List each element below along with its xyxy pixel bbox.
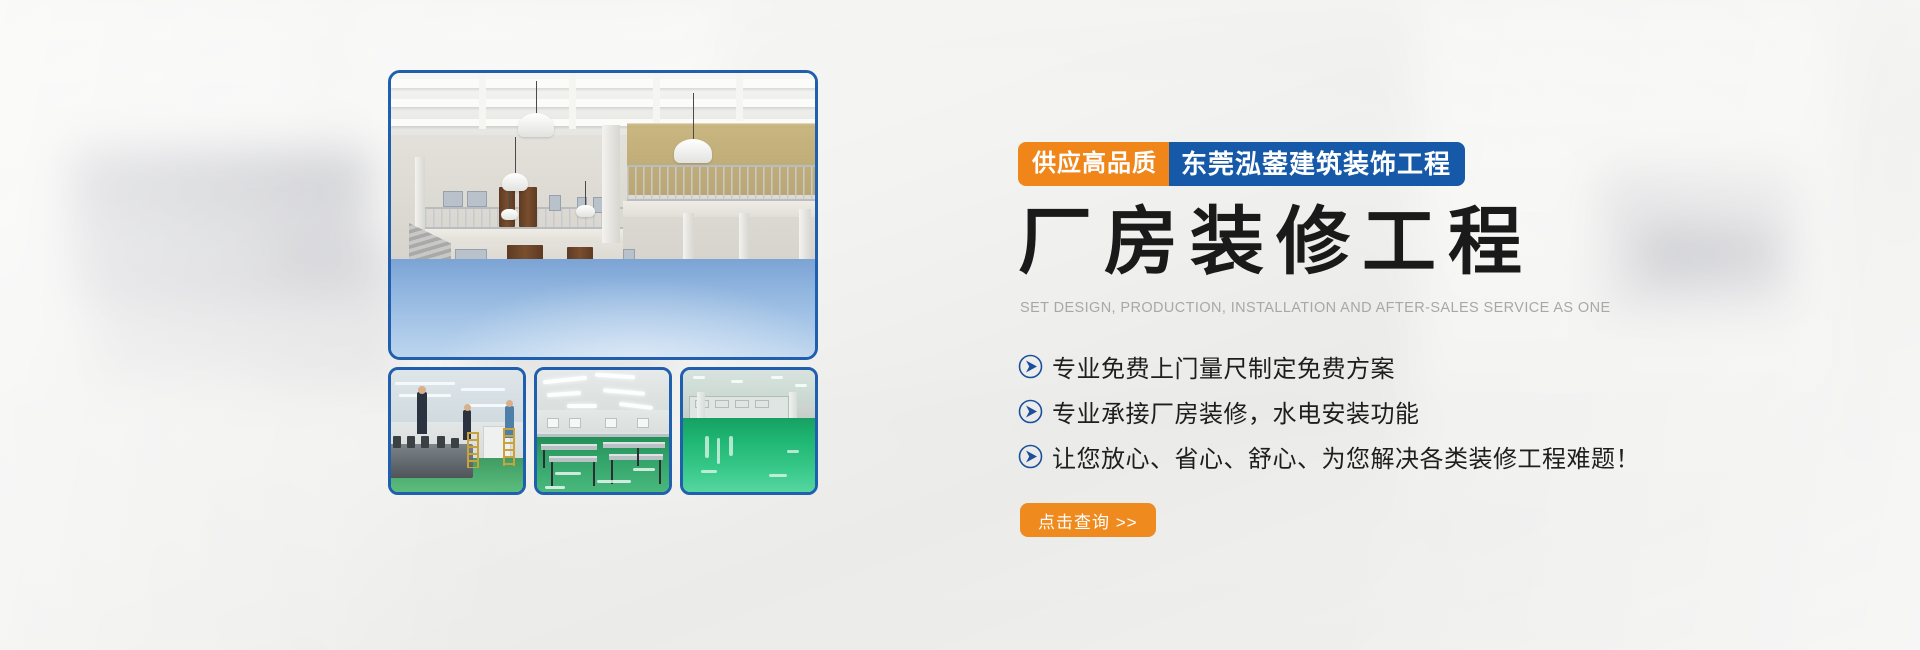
- list-item-label: 专业承接厂房装修，水电安装功能: [1052, 394, 1420, 429]
- thumb3-partition-window: [735, 400, 749, 408]
- thumb3-ceiling-light: [795, 384, 807, 387]
- thumb2-floor-reflection: [597, 480, 631, 483]
- thumb2-window: [605, 418, 617, 428]
- pendant-lamp-shade: [502, 173, 528, 191]
- thumb2-table-leg: [543, 450, 545, 468]
- upper-door: [519, 187, 537, 227]
- mezzanine-railing: [627, 165, 815, 201]
- thumb3-ceiling-light: [731, 380, 743, 383]
- thumb2-table-leg: [637, 448, 639, 466]
- thumb1-ceiling-strip: [395, 382, 455, 385]
- mezzanine-deck: [623, 201, 815, 217]
- pendant-lamp-shade: [518, 113, 554, 137]
- thumb3-floor-reflection: [769, 474, 787, 477]
- thumb3-floor-reflection: [729, 436, 733, 456]
- thumb2-table-leg: [593, 462, 595, 486]
- thumb3-floor-reflection: [787, 450, 799, 453]
- thumb1-machine-part: [393, 436, 401, 448]
- circle-arrow-right-icon: [1018, 354, 1043, 379]
- ceiling-beam-cross: [736, 73, 743, 121]
- upper-window: [467, 191, 487, 207]
- thumb1-machine-part: [421, 436, 429, 448]
- floor-sheen: [391, 259, 815, 357]
- list-item-label: 专业免费上门量尺制定免费方案: [1052, 349, 1395, 384]
- pendant-lamp-cord: [693, 93, 694, 141]
- thumb1-ladder: [467, 432, 479, 468]
- background-scene: [0, 0, 1920, 650]
- thumbnail-1[interactable]: [388, 367, 526, 495]
- english-subtitle: SET DESIGN, PRODUCTION, INSTALLATION AND…: [1020, 300, 1611, 316]
- list-item: 让您放心、省心、舒心、为您解决各类装修工程难题！: [1018, 438, 1640, 475]
- pendant-lamp-cord: [515, 137, 516, 175]
- thumb3-partition-window: [715, 400, 729, 408]
- thumb1-ladder: [503, 428, 515, 466]
- thumb1-ceiling-strip: [469, 404, 509, 407]
- thumb3-green-floor: [683, 418, 815, 492]
- upper-window: [443, 191, 463, 207]
- thumb2-worktable: [541, 444, 597, 450]
- thumb2-floor-reflection: [633, 468, 655, 471]
- mezzanine-deck-left: [417, 229, 623, 243]
- circle-arrow-right-icon: [1018, 399, 1043, 424]
- list-item: 专业免费上门量尺制定免费方案: [1018, 348, 1640, 385]
- thumb1-machine: [388, 444, 473, 478]
- badge-company-name: 东莞泓蓥建筑装饰工程: [1169, 142, 1465, 186]
- thumb2-window: [637, 418, 649, 428]
- thumb2-worktable: [609, 454, 663, 460]
- thumb1-worker-head: [506, 400, 513, 407]
- ceiling-beam-cross: [653, 73, 660, 125]
- thumb3-floor-reflection: [701, 470, 717, 473]
- thumb1-ceiling-strip: [461, 388, 505, 391]
- thumb1-machine-part: [437, 436, 445, 448]
- thumb3-partition-window: [755, 400, 769, 408]
- inquiry-button[interactable]: 点击查询 >>: [1020, 503, 1156, 537]
- thumb3-ceiling-light: [771, 376, 783, 379]
- thumb2-light-tube: [567, 404, 597, 408]
- list-item-label: 让您放心、省心、舒心、为您解决各类装修工程难题！: [1052, 439, 1640, 474]
- circle-arrow-right-icon: [1018, 444, 1043, 469]
- page-title: 厂房装修工程: [1018, 205, 1534, 279]
- thumbnail-3[interactable]: [680, 367, 818, 495]
- warehouse-illustration: [391, 73, 815, 357]
- list-item: 专业承接厂房装修，水电安装功能: [1018, 393, 1640, 430]
- thumb2-table-leg: [659, 460, 661, 484]
- upper-door: [499, 187, 515, 227]
- thumb2-window: [569, 418, 581, 428]
- ceiling-beam-cross: [569, 73, 576, 129]
- thumb3-ceiling-light: [693, 376, 705, 379]
- thumb1-machine-part: [407, 436, 415, 448]
- thumb2-floor-reflection: [545, 486, 565, 489]
- thumb2-table-leg: [551, 462, 553, 486]
- thumb2-worktable: [537, 432, 669, 437]
- pendant-lamp-shade: [576, 205, 595, 217]
- company-badge: 供应高品质 东莞泓蓥建筑装饰工程: [1018, 142, 1465, 186]
- ceiling-beam: [391, 79, 815, 88]
- ceiling-beam: [391, 99, 815, 107]
- thumb1-machine-part: [451, 438, 459, 448]
- background-sheen: [0, 0, 1920, 650]
- thumb3-floor-reflection: [705, 436, 709, 458]
- pendant-lamp-cord: [585, 181, 586, 207]
- thumb2-window: [547, 418, 559, 428]
- thumb3-floor-reflection: [717, 438, 720, 464]
- badge-highlight: 供应高品质: [1018, 142, 1169, 186]
- pendant-lamp-cord: [509, 191, 510, 211]
- thumbnail-2[interactable]: [534, 367, 672, 495]
- feature-list: 专业免费上门量尺制定免费方案 专业承接厂房装修，水电安装功能 让您放心、省心、舒…: [1018, 348, 1640, 483]
- main-photo-frame[interactable]: [388, 70, 818, 360]
- thumb2-worktable: [549, 456, 597, 462]
- thumb1-worker-head: [418, 386, 426, 394]
- thumb1-ceiling: [391, 370, 523, 426]
- upper-window: [549, 195, 561, 211]
- pendant-lamp-shade: [501, 209, 518, 220]
- pendant-lamp-shade: [674, 139, 712, 163]
- thumb1-worker: [417, 392, 427, 434]
- pendant-lamp-cord: [536, 81, 537, 115]
- thumb1-worker-head: [464, 404, 471, 411]
- thumb2-floor-reflection: [555, 472, 581, 475]
- ceiling-beam-cross: [479, 73, 486, 129]
- thumbnail-row: [388, 367, 818, 495]
- thumb2-worktable: [603, 442, 665, 448]
